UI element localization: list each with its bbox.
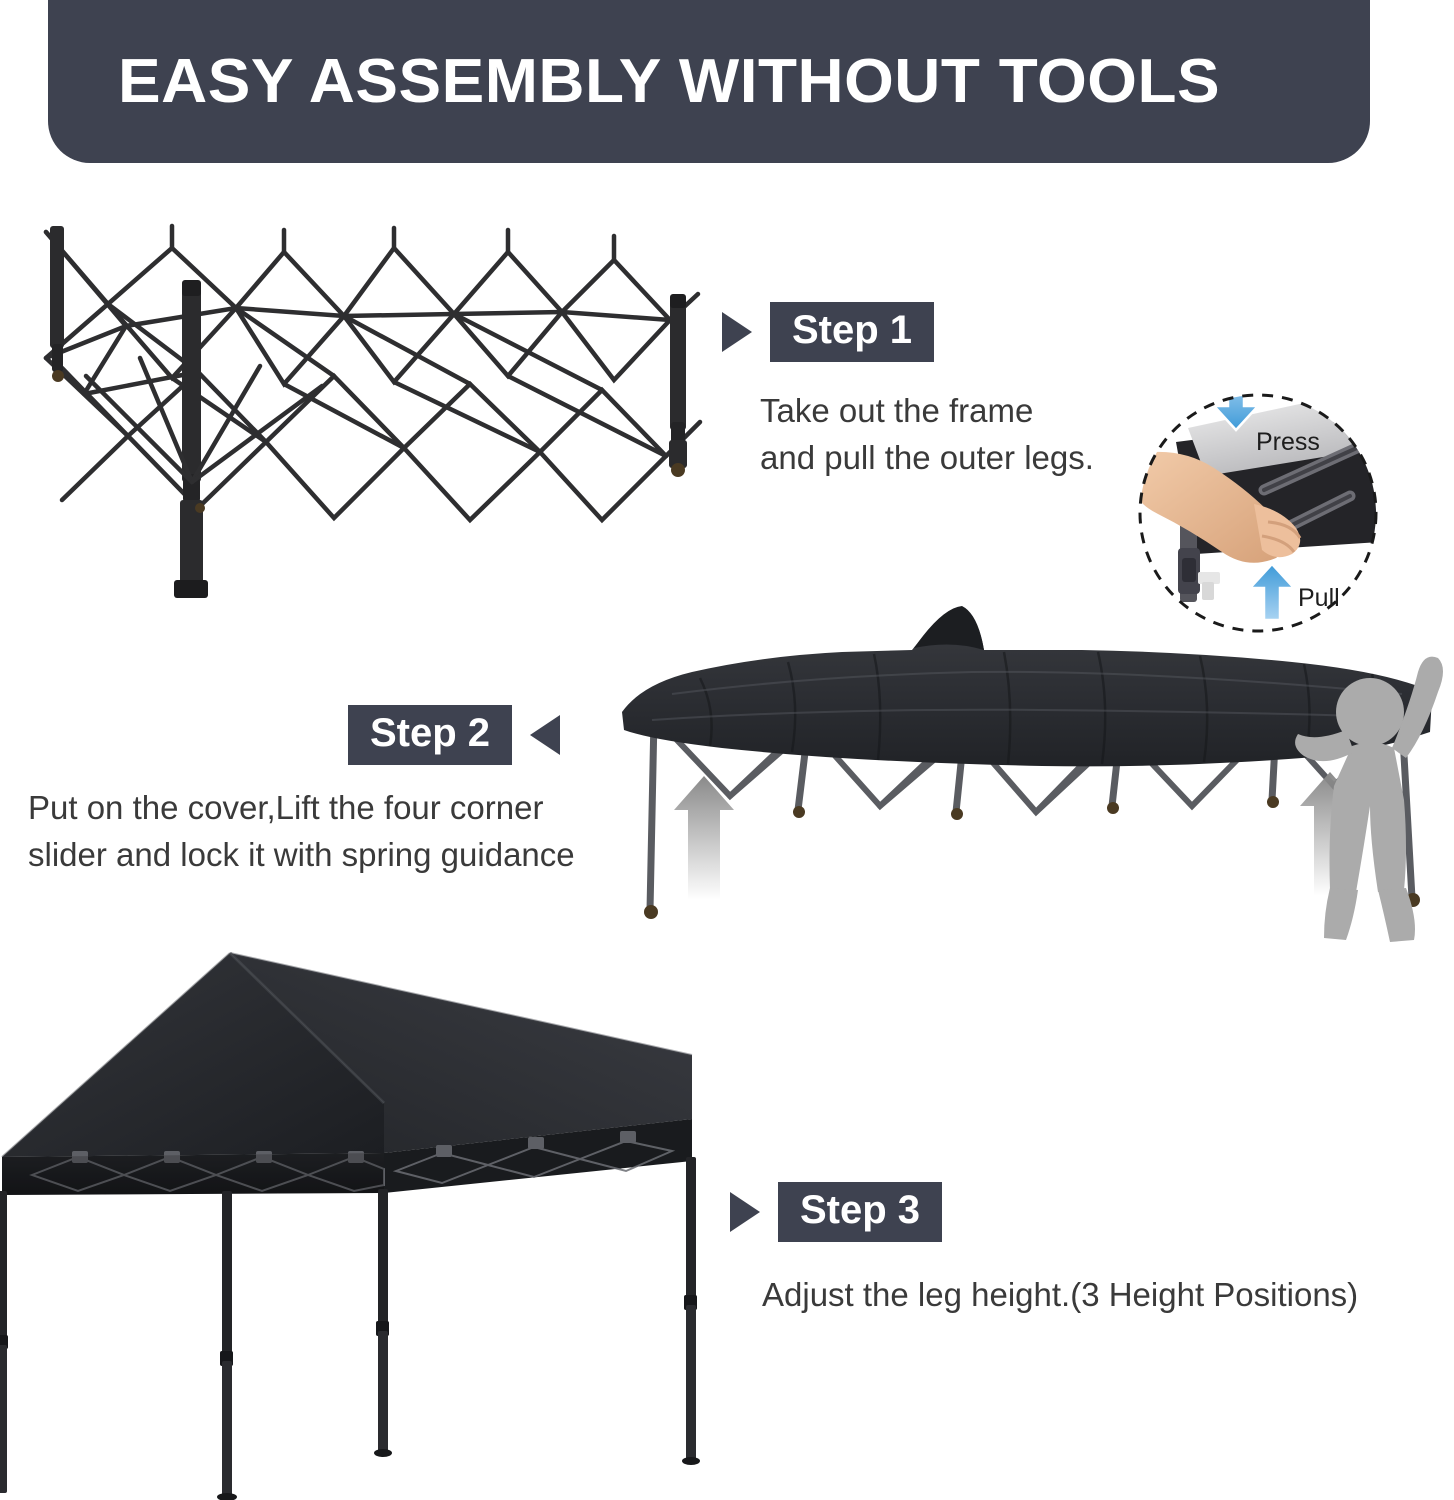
step-1-header: Step 1 (722, 302, 934, 362)
step-2-badge: Step 2 (348, 705, 512, 765)
step-1-description: Take out the frame and pull the outer le… (760, 388, 1094, 482)
step-3-description: Adjust the leg height.(3 Height Position… (762, 1272, 1358, 1319)
page-title: EASY ASSEMBLY WITHOUT TOOLS (48, 46, 1220, 117)
triangle-left-icon (530, 715, 560, 755)
canopy-cover-illustration (612, 600, 1452, 945)
frame-left-leg (50, 226, 64, 382)
step-3-header: Step 3 (730, 1182, 942, 1242)
triangle-right-icon (722, 312, 752, 352)
collapsed-frame-illustration (22, 208, 722, 628)
canopy-legs (0, 1157, 700, 1500)
press-label: Press (1256, 428, 1320, 456)
frame-right-leg (669, 294, 687, 477)
step-2-description: Put on the cover,Lift the four corner sl… (28, 785, 575, 879)
step-2-header: Step 2 (348, 705, 560, 765)
header-banner: EASY ASSEMBLY WITHOUT TOOLS (48, 0, 1370, 163)
triangle-right-icon (730, 1192, 760, 1232)
assembled-canopy-illustration (0, 905, 752, 1500)
step-1-badge: Step 1 (770, 302, 934, 362)
step-3-badge: Step 3 (778, 1182, 942, 1242)
